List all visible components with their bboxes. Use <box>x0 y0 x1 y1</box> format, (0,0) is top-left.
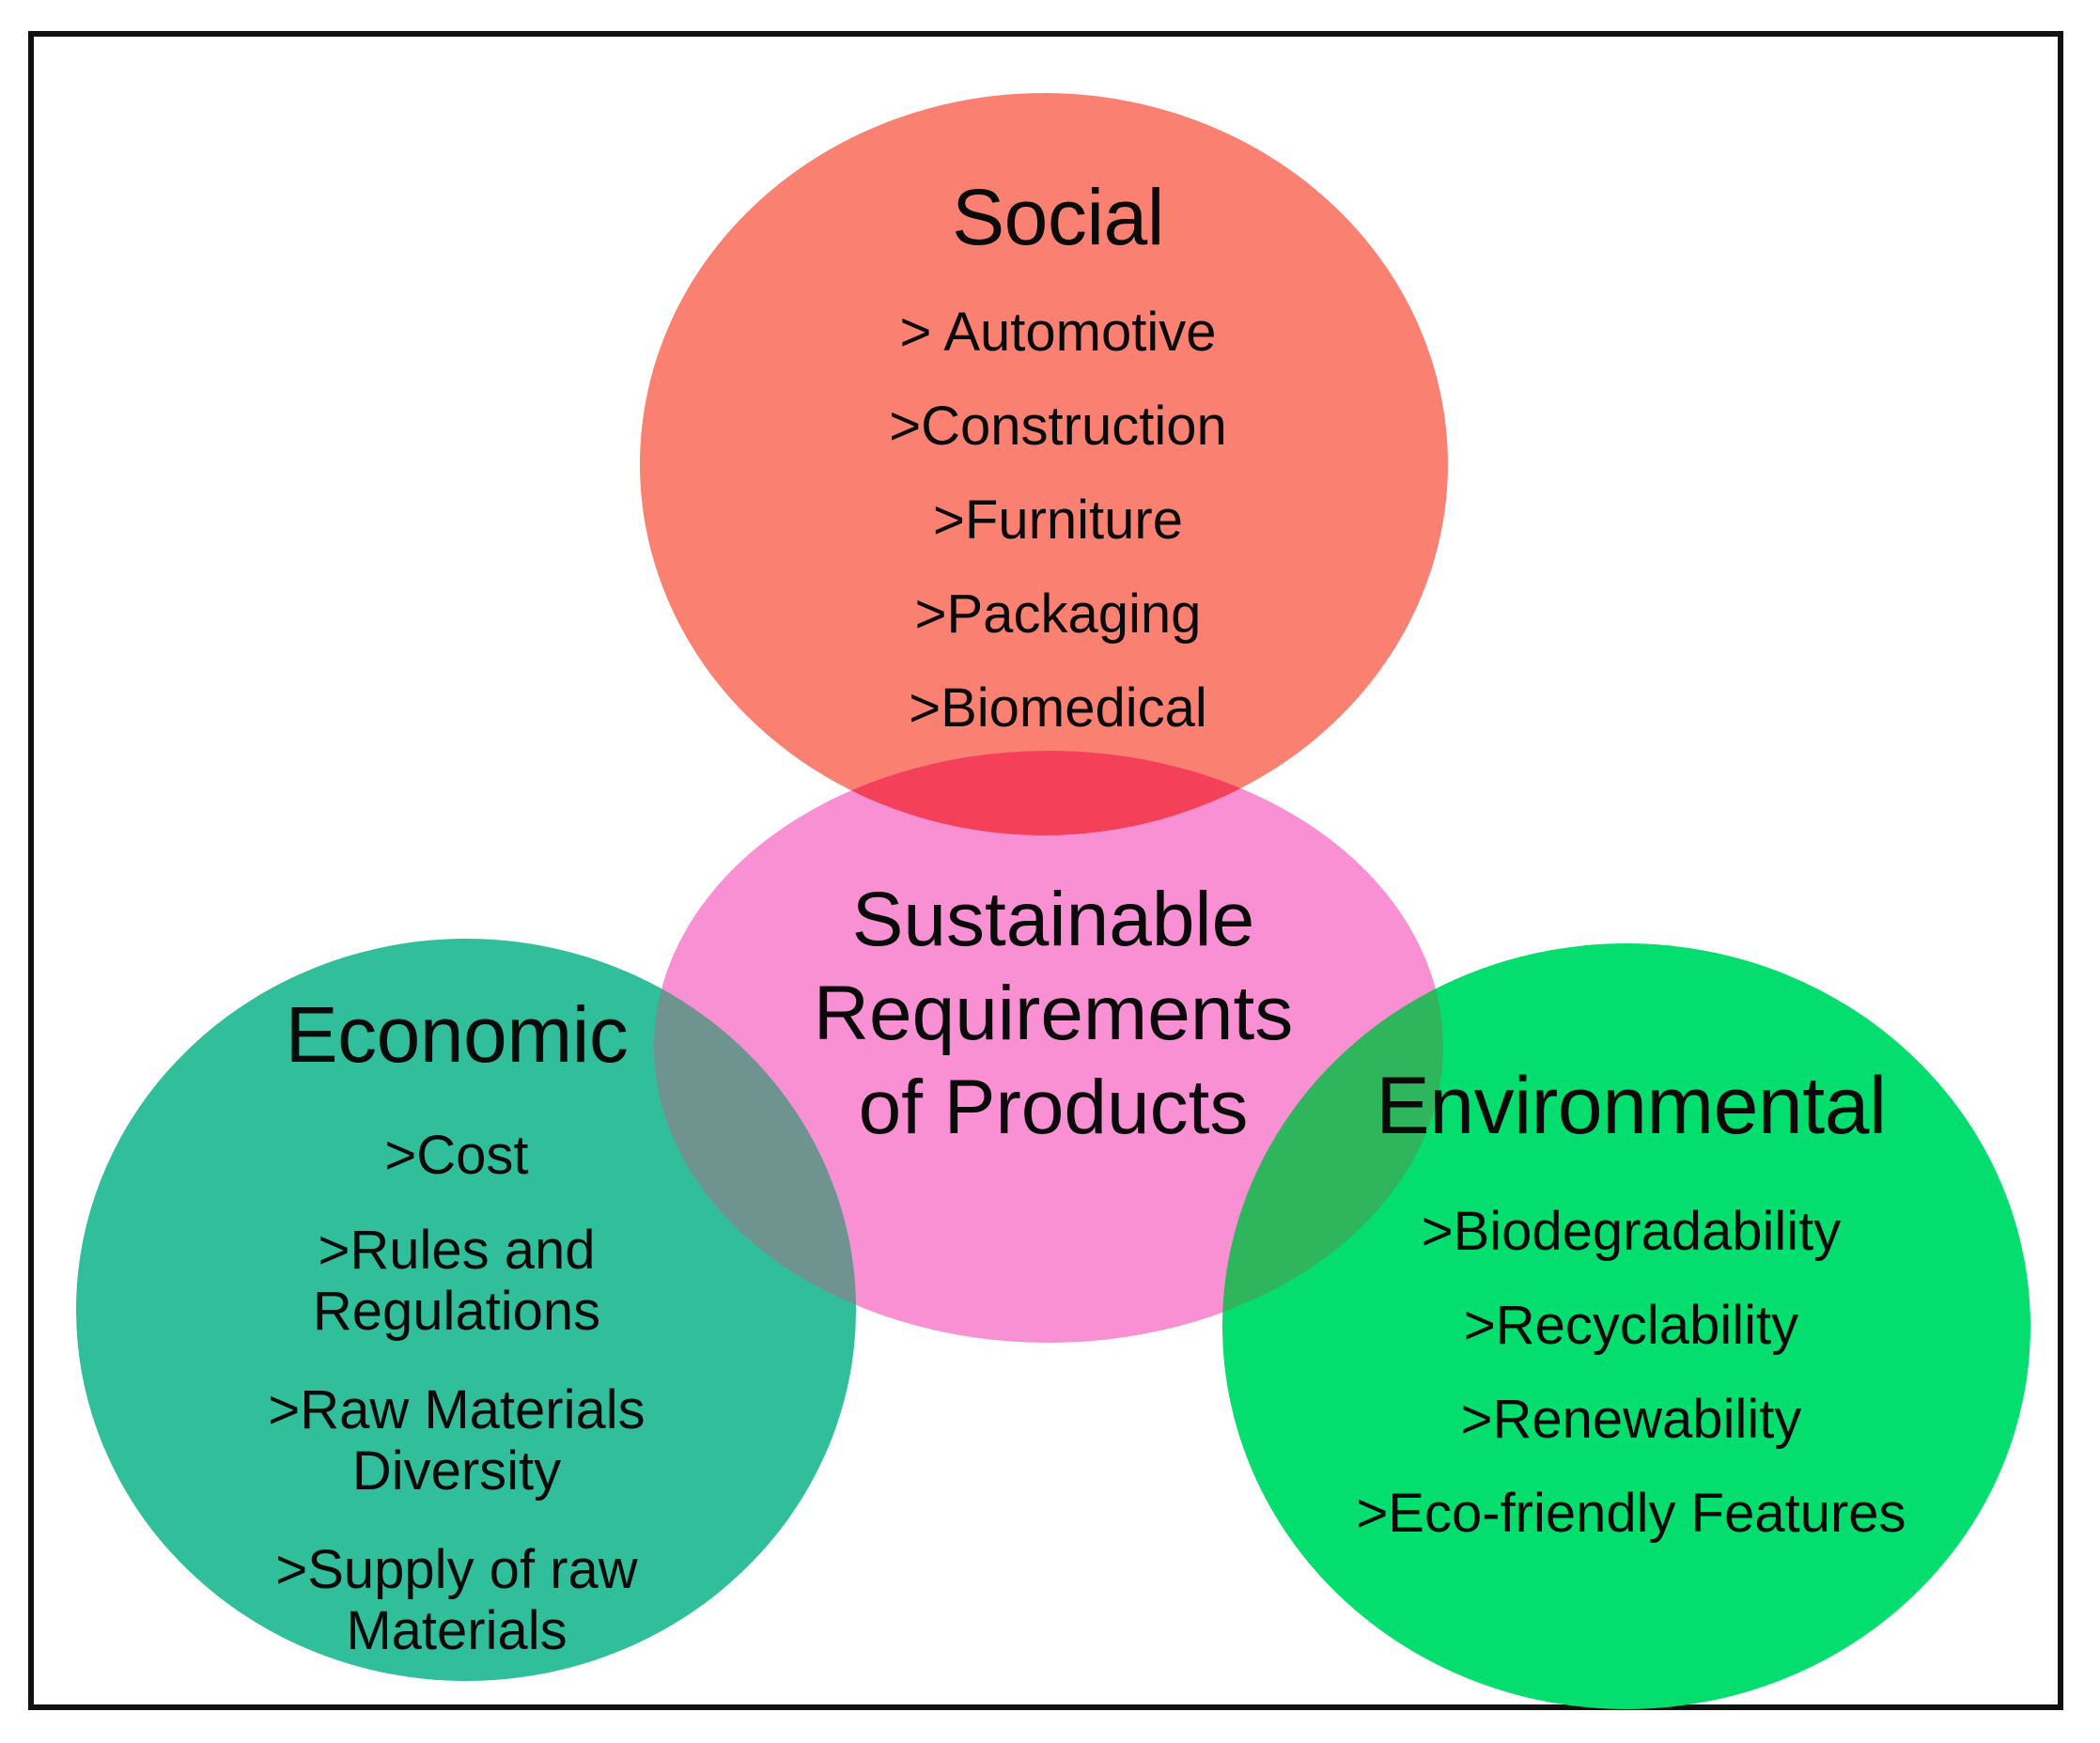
environmental-center-overlap <box>654 751 1443 1343</box>
diagram-frame-border: Social > Automotive >Construction >Furni… <box>28 31 2063 1710</box>
diagram-canvas: Social > Automotive >Construction >Furni… <box>0 0 2100 1743</box>
environmental-center-overlap-fill <box>1222 943 1443 1343</box>
social-circle[interactable] <box>640 93 1448 835</box>
